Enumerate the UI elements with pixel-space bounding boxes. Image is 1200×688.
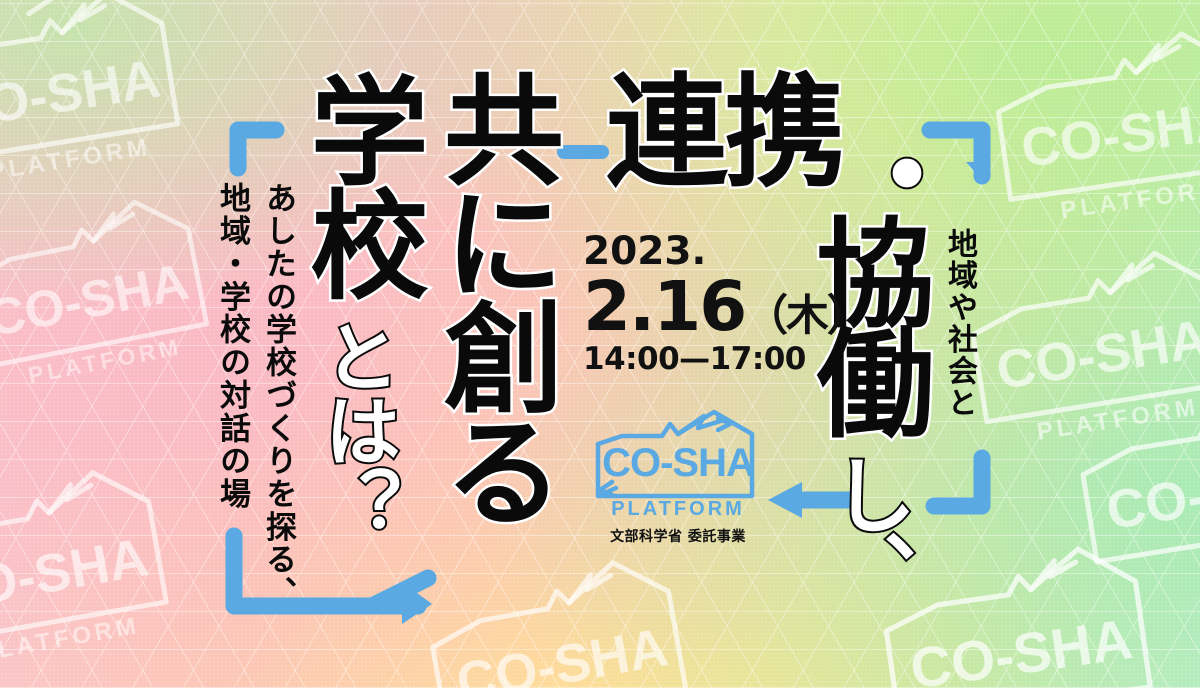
watermark-logo: CO-SHA PLATFORM: [414, 536, 746, 688]
watermark-logo: CO-SHA PLATFORM: [982, 10, 1200, 260]
title-dash-icon: [555, 140, 611, 164]
title-renkei: 連携: [606, 72, 842, 194]
co-sha-platform-logo: CO-SHA PLATFORM 文部科学省 委託事業: [592, 408, 764, 548]
date-time-line: 14:00—17:00: [583, 344, 868, 375]
logo-wordmark: CO-SHA: [602, 441, 754, 485]
corner-bracket-top-left: [228, 118, 284, 178]
caption-left-outer: 地域・学校の対話の場: [216, 182, 247, 511]
caption-right: 地域や社会と: [944, 228, 974, 419]
title-gakkou: 学校: [300, 70, 418, 298]
svg-text:CO-SHA: CO-SHA: [452, 617, 672, 688]
svg-text:CO-SHA: CO-SHA: [992, 308, 1200, 401]
event-time-range: 14:00—17:00: [583, 344, 806, 375]
corner-bracket-bottom-left-arrow-right: [222, 528, 442, 618]
title-shi: し、: [826, 452, 910, 608]
date-year-line: 2023.: [583, 232, 868, 271]
date-year: 2023.: [583, 232, 706, 271]
svg-text:CO-SHA: CO-SHA: [1102, 448, 1200, 541]
title-toha: とは？: [318, 318, 394, 540]
logo-house-outline-icon: CO-SHA: [592, 408, 764, 508]
event-date-block: 2023. 2.16（木） 14:00—17:00: [583, 232, 868, 375]
date-day-of-week: （木）: [745, 291, 867, 341]
logo-platform-text: PLATFORM: [592, 498, 764, 521]
svg-text:CO-SHA: CO-SHA: [1018, 90, 1200, 179]
title-tomoni-tsukuru: 共に創る: [432, 68, 552, 524]
corner-bracket-bottom-right: [920, 448, 1000, 528]
caption-left-inner: あしたの学校づくりを探る、: [262, 182, 293, 609]
logo-ministry-text: 文部科学省 委託事業: [592, 526, 764, 546]
date-day: 2.16: [583, 273, 745, 342]
svg-text:CO-SHA: CO-SHA: [0, 48, 164, 141]
poster-canvas: CO-SHA PLATFORM CO-SHA PLATFORM CO-SHA P…: [0, 0, 1200, 688]
date-day-line: 2.16（木）: [583, 273, 868, 342]
watermark-logo: CO-SHA PLATFORM: [0, 446, 226, 688]
